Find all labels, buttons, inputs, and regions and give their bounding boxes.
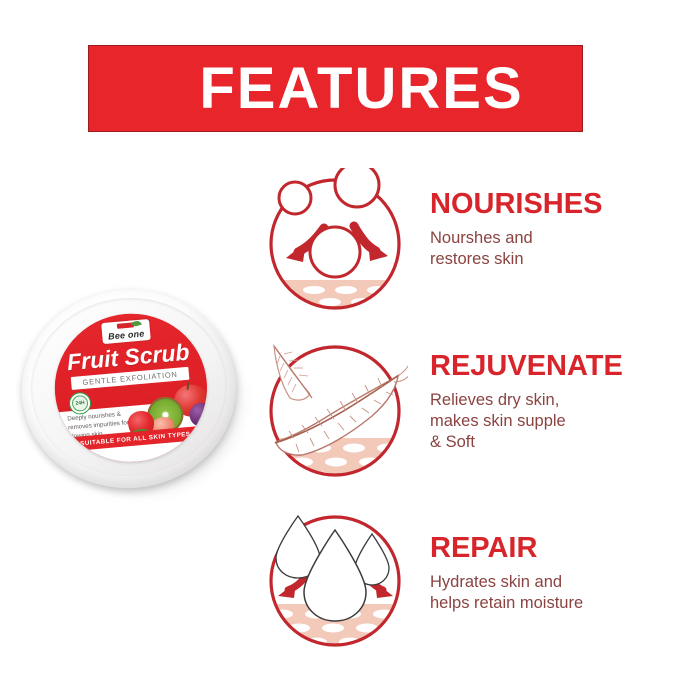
- brand-logo: Bee one: [101, 319, 151, 344]
- feature-repair: REPAIR Hydrates skin and helps retain mo…: [262, 508, 583, 654]
- feature-title: REPAIR: [430, 534, 583, 563]
- feature-text-repair: REPAIR Hydrates skin and helps retain mo…: [430, 508, 583, 614]
- feature-title: REJUVENATE: [430, 352, 623, 381]
- product-jar: Bee one Fruit Scrub GENTLE EXFOLIATION 2…: [18, 286, 250, 501]
- infographic-canvas: FEATURES Bee one Fruit Scrub GENTLE EXFO…: [0, 0, 679, 679]
- page-title: FEATURES: [147, 60, 523, 118]
- rejuvenate-feather-icon: [262, 338, 408, 484]
- feature-body: Nourshes and restores skin: [430, 228, 602, 270]
- feature-nourishes: NOURISHES Nourshes and restores skin: [262, 168, 602, 314]
- feature-title: NOURISHES: [430, 190, 602, 219]
- feature-body: Hydrates skin and helps retain moisture: [430, 572, 583, 614]
- jar-label: Bee one Fruit Scrub GENTLE EXFOLIATION 2…: [49, 307, 213, 468]
- nourishes-molecules-icon: [262, 168, 408, 314]
- feature-rejuvenate: REJUVENATE Relieves dry skin, makes skin…: [262, 338, 623, 484]
- repair-droplet-icon: [262, 508, 408, 654]
- seal-text: 24H: [71, 395, 88, 412]
- feature-text-rejuvenate: REJUVENATE Relieves dry skin, makes skin…: [430, 338, 623, 453]
- brand-name: Bee one: [108, 328, 145, 341]
- features-banner: FEATURES: [88, 45, 583, 132]
- feature-body: Relieves dry skin, makes skin supple & S…: [430, 390, 623, 453]
- feature-text-nourishes: NOURISHES Nourshes and restores skin: [430, 168, 602, 270]
